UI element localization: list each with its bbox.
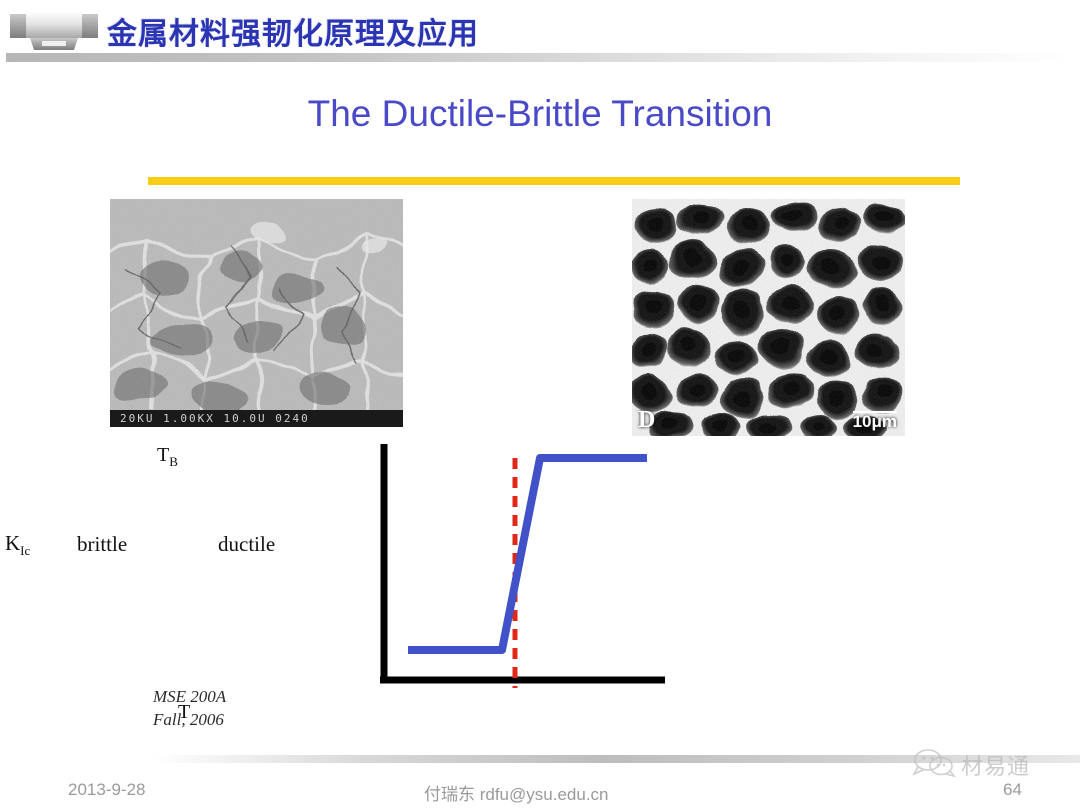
course-note: MSE 200A Fall, 2006: [153, 686, 226, 732]
slide-header: 金属材料强韧化原理及应用: [0, 0, 1080, 62]
footer-date: 2013-9-28: [68, 780, 146, 800]
ductile-brittle-transition-chart: [330, 440, 690, 730]
sem-scale-bar-label: 10μm: [853, 414, 897, 430]
course-note-line2: Fall, 2006: [153, 709, 226, 732]
page-title: The Ductile-Brittle Transition: [0, 93, 1080, 135]
footer-page-number: 64: [1003, 780, 1022, 800]
sem-scale-bar: 10μm: [853, 414, 897, 430]
ductile-fracture-sem: D 10μm: [632, 199, 905, 436]
chart-y-axis-label: KIc: [5, 531, 30, 559]
title-accent-bar: [148, 177, 960, 185]
chart-annotation-tb: TB: [157, 444, 178, 470]
watermark-label: 材易通: [961, 749, 1030, 781]
wechat-bubbles-icon: [912, 748, 956, 783]
sem-caption-brittle: 20KU 1.00KX 10.0U 0240: [110, 410, 403, 427]
course-title: 金属材料强韧化原理及应用: [107, 9, 479, 53]
ribbon-banner-icon: [8, 10, 100, 54]
course-note-line1: MSE 200A: [153, 686, 226, 709]
watermark: 材易通: [912, 747, 1072, 783]
chart-annotation-ductile: ductile: [218, 532, 275, 557]
header-divider: [6, 53, 1074, 62]
chart-annotation-brittle: brittle: [77, 532, 127, 557]
sem-panel-label-d: D: [638, 407, 655, 434]
footer-author: 付瑞东 rdfu@ysu.edu.cn: [424, 780, 609, 805]
chart-series-kic: [408, 458, 647, 650]
brittle-fracture-sem: 20KU 1.00KX 10.0U 0240: [110, 199, 403, 427]
